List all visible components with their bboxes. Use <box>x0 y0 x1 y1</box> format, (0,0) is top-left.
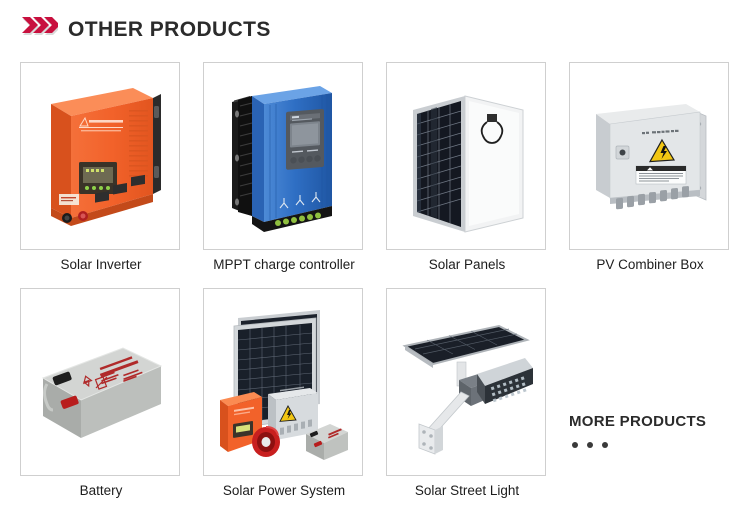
product-card-solar-street-light[interactable]: Solar Street Light <box>386 288 548 506</box>
solar-inverter-image <box>25 66 175 246</box>
product-card-mppt-charge-controller[interactable]: MPPT charge controller <box>203 62 365 280</box>
triple-chevron-right-icon <box>20 16 58 43</box>
product-card-solar-inverter[interactable]: Solar Inverter <box>20 62 182 280</box>
solar-power-system-image <box>208 292 358 472</box>
more-products-title: MORE PRODUCTS <box>569 413 731 430</box>
product-image-frame <box>203 62 363 250</box>
product-image-frame <box>569 62 729 250</box>
product-image-frame <box>203 288 363 476</box>
solar-panels-image <box>391 66 541 246</box>
product-grid: Solar Inverter <box>20 62 731 506</box>
section-header: OTHER PRODUCTS <box>20 16 271 43</box>
product-image-frame <box>20 288 180 476</box>
product-card-pv-combiner-box[interactable]: PV Combiner Box <box>569 62 731 280</box>
product-label: PV Combiner Box <box>569 250 731 280</box>
product-card-battery[interactable]: Battery <box>20 288 182 506</box>
dot-icon-2 <box>587 442 593 448</box>
product-label: Solar Panels <box>386 250 548 280</box>
pv-combiner-box-image <box>574 66 724 246</box>
product-label: Battery <box>20 476 182 506</box>
product-catalog-page: OTHER PRODUCTS <box>0 0 750 525</box>
mppt-charge-controller-image <box>208 66 358 246</box>
product-image-frame <box>386 62 546 250</box>
product-label: Solar Street Light <box>386 476 548 506</box>
product-card-solar-power-system[interactable]: Solar Power System <box>203 288 365 506</box>
product-label: Solar Power System <box>203 476 365 506</box>
more-products-dots[interactable] <box>572 442 731 448</box>
battery-image <box>25 292 175 472</box>
dot-icon-1 <box>572 442 578 448</box>
product-label: Solar Inverter <box>20 250 182 280</box>
dot-icon-3 <box>602 442 608 448</box>
product-label: MPPT charge controller <box>203 250 365 280</box>
product-card-solar-panels[interactable]: Solar Panels <box>386 62 548 280</box>
page-title: OTHER PRODUCTS <box>68 19 271 40</box>
product-image-frame <box>386 288 546 476</box>
solar-street-light-image <box>391 292 541 472</box>
more-products-block[interactable]: MORE PRODUCTS <box>569 288 731 506</box>
product-image-frame <box>20 62 180 250</box>
